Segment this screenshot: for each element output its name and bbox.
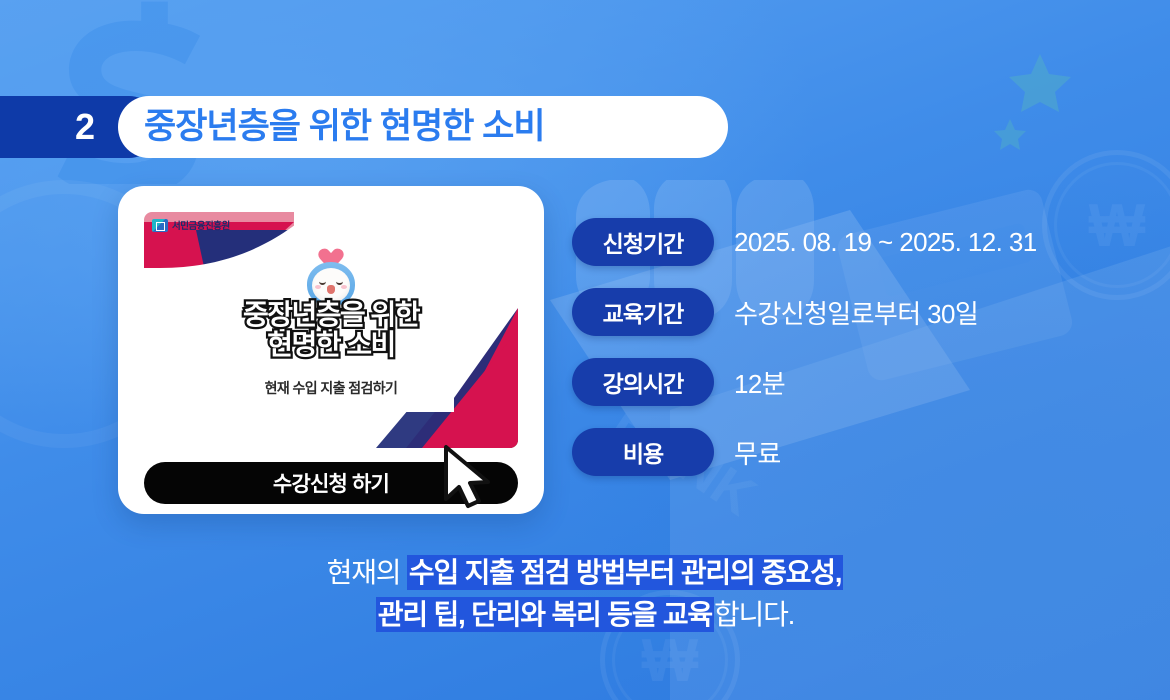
caption-plain-1: 현재의 — [327, 557, 407, 588]
caption-line-1: 현재의 수입 지출 점검 방법부터 관리의 중요성, — [0, 552, 1170, 594]
page-title: 중장년층을 위한 현명한 소비 — [144, 96, 545, 158]
mascot-eye-right — [336, 279, 343, 285]
info-value: 2025. 08. 19 ~ 2025. 12. 31 — [734, 227, 1037, 258]
mascot-mouth — [327, 285, 335, 294]
caption-highlight-1: 수입 지출 점검 방법부터 관리의 중요성, — [407, 555, 843, 590]
institution-name: 서민금융진흥원 — [172, 218, 230, 232]
info-value: 수강신청일로부터 30일 — [734, 294, 978, 331]
course-info-list: 신청기간 2025. 08. 19 ~ 2025. 12. 31 교육기간 수강… — [572, 218, 1037, 498]
caption-line-2: 관리 팁, 단리와 복리 등을 교육합니다. — [0, 594, 1170, 636]
thumbnail-subtitle: 현재 수입 지출 점검하기 — [144, 378, 518, 398]
promo-banner: ₩ ₩ BANK — [0, 0, 1170, 700]
thumbnail-title-line2: 현명한 소비 — [144, 330, 518, 360]
info-label: 비용 — [572, 428, 714, 476]
star-shape-small — [993, 118, 1027, 151]
course-thumbnail: 서민금융진흥원 중장년층을 위한 현명한 소비 현재 수입 지출 점검하기 — [144, 212, 518, 448]
info-value: 12분 — [734, 364, 785, 401]
info-row: 신청기간 2025. 08. 19 ~ 2025. 12. 31 — [572, 218, 1037, 266]
mascot-eye-left — [319, 279, 326, 285]
section-number: 2 — [75, 96, 95, 158]
institute-logo-mark-icon — [152, 219, 168, 232]
mascot-face — [312, 268, 350, 303]
thumbnail-title-line1: 중장년층을 위한 — [144, 300, 518, 330]
caption-plain-2: 합니다. — [714, 599, 794, 630]
info-row: 강의시간 12분 — [572, 358, 1037, 406]
caption-highlight-2: 관리 팁, 단리와 복리 등을 교육 — [376, 597, 714, 632]
thumbnail-title: 중장년층을 위한 현명한 소비 — [144, 300, 518, 360]
info-label: 교육기간 — [572, 288, 714, 336]
info-row: 비용 무료 — [572, 428, 1037, 476]
star-shape-large — [1008, 52, 1072, 114]
institution-logo: 서민금융진흥원 — [152, 218, 230, 232]
mascot-cheek-left — [315, 285, 321, 289]
won-coin-shape: ₩ — [1042, 150, 1170, 300]
info-value: 무료 — [734, 434, 781, 471]
info-row: 교육기간 수강신청일로부터 30일 — [572, 288, 1037, 336]
info-label: 강의시간 — [572, 358, 714, 406]
mascot-cheek-right — [341, 285, 347, 289]
description-caption: 현재의 수입 지출 점검 방법부터 관리의 중요성, 관리 팁, 단리와 복리 … — [0, 552, 1170, 636]
mouse-pointer-icon — [440, 444, 496, 510]
info-label: 신청기간 — [572, 218, 714, 266]
